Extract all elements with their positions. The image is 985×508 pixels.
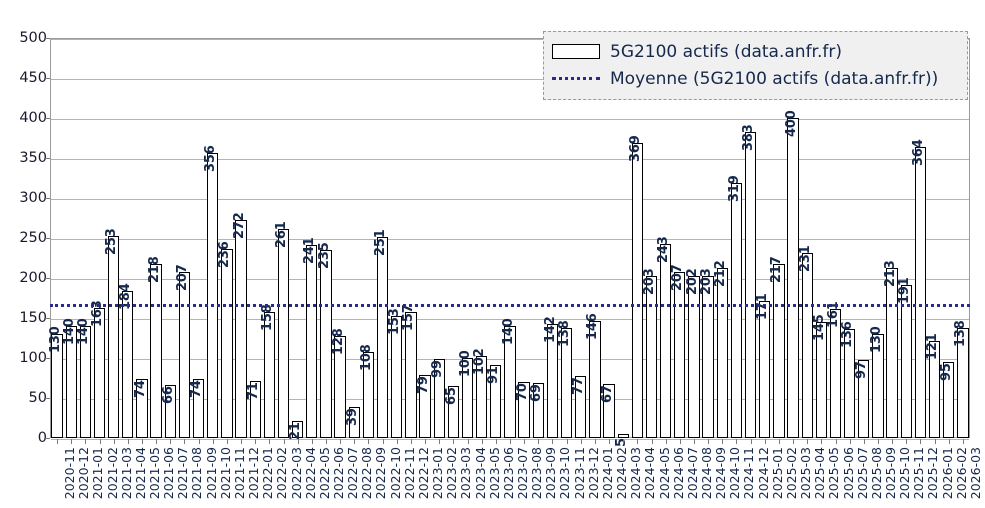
x-axis-tick-mark	[255, 439, 256, 444]
bar-value-label: 203	[642, 268, 657, 295]
bar-value-label: 261	[274, 222, 289, 249]
y-axis-tick-label: 0	[0, 430, 47, 446]
bar-value-label: 207	[670, 265, 685, 292]
bar-value-label: 400	[784, 110, 799, 137]
x-axis-tick-label: 2024-04	[642, 447, 657, 499]
x-axis-tick-mark	[340, 439, 341, 444]
x-axis-tick-mark	[439, 439, 440, 444]
bar-value-label: 236	[217, 242, 232, 269]
x-axis-tick-mark	[468, 439, 469, 444]
bar-value-label: 67	[600, 386, 615, 404]
bar	[915, 147, 926, 438]
x-axis-tick-mark	[736, 439, 737, 444]
bar	[731, 183, 742, 438]
x-axis-tick-mark	[751, 439, 752, 444]
x-axis-tick-mark	[114, 439, 115, 444]
x-axis-tick-mark	[949, 439, 950, 444]
x-axis-tick-mark	[595, 439, 596, 444]
bar-value-label: 140	[76, 318, 91, 345]
bar	[235, 220, 246, 438]
bar	[221, 249, 232, 438]
bar-value-label: 203	[699, 268, 714, 295]
x-axis-tick-label: 2021-06	[161, 447, 176, 499]
x-axis-tick-label: 2021-02	[105, 447, 120, 499]
bar	[150, 264, 161, 438]
x-axis-tick-mark	[510, 439, 511, 444]
x-axis-tick-mark	[184, 439, 185, 444]
bar-value-label: 243	[656, 236, 671, 263]
x-axis-tick-label: 2020-12	[76, 447, 91, 499]
x-axis-tick-mark	[963, 439, 964, 444]
y-axis-tick-label: 350	[0, 150, 47, 166]
x-axis-tick-mark	[354, 439, 355, 444]
bar-value-label: 369	[628, 135, 643, 162]
x-axis-tick-label: 2021-03	[119, 447, 134, 499]
x-axis-tick-label: 2025-09	[883, 447, 898, 499]
x-axis-tick-mark	[156, 439, 157, 444]
x-axis-tick-mark	[213, 439, 214, 444]
x-axis-tick-mark	[312, 439, 313, 444]
bar-value-label: 251	[373, 230, 388, 257]
y-axis-tick-mark	[44, 438, 50, 439]
bar-value-label: 138	[557, 320, 572, 347]
bar-chart: 050100150200250300350400450500 130140140…	[0, 0, 985, 508]
x-axis-tick-mark	[609, 439, 610, 444]
y-axis-tick-label: 250	[0, 230, 47, 246]
x-axis-tick-mark	[496, 439, 497, 444]
x-axis-tick-label: 2022-10	[388, 447, 403, 499]
x-axis-tick-mark	[482, 439, 483, 444]
bar-value-label: 21	[288, 422, 303, 440]
bar-value-label: 77	[571, 378, 586, 396]
bar	[745, 132, 756, 438]
bar-value-label: 74	[133, 380, 148, 398]
x-axis-tick-label: 2022-03	[289, 447, 304, 499]
legend-item-mean: Moyenne (5G2100 actifs (data.anfr.fr))	[552, 65, 959, 92]
bar	[802, 253, 813, 438]
x-axis-tick-label: 2023-08	[529, 447, 544, 499]
x-axis-tick-mark	[708, 439, 709, 444]
x-axis-tick-label: 2022-11	[402, 447, 417, 499]
x-axis-tick-mark	[241, 439, 242, 444]
bar-value-label: 66	[161, 386, 176, 404]
x-axis-tick-label: 2025-03	[798, 447, 813, 499]
x-axis-tick-label: 2024-08	[699, 447, 714, 499]
x-axis-tick-label: 2025-05	[826, 447, 841, 499]
x-axis-tick-label: 2023-10	[557, 447, 572, 499]
bar-outline-swatch-icon	[552, 44, 600, 59]
bar	[320, 250, 331, 438]
x-axis-tick-mark	[807, 439, 808, 444]
x-axis-tick-mark	[793, 439, 794, 444]
bar-value-label: 79	[416, 376, 431, 394]
x-axis-tick-mark	[142, 439, 143, 444]
x-axis-tick-label: 2024-11	[741, 447, 756, 499]
bar-value-label: 207	[175, 265, 190, 292]
bar-value-label: 65	[444, 387, 459, 405]
bar-value-label: 69	[529, 384, 544, 402]
x-axis-tick-label: 2025-01	[770, 447, 785, 499]
x-axis-tick-label: 2024-01	[600, 447, 615, 499]
x-axis-tick-label: 2025-02	[784, 447, 799, 499]
bar-value-label: 191	[897, 278, 912, 305]
bar	[94, 308, 105, 438]
x-axis-tick-label: 2023-12	[586, 447, 601, 499]
x-axis-tick-label: 2025-04	[812, 447, 827, 499]
x-axis-tick-mark	[567, 439, 568, 444]
x-axis-tick-mark	[666, 439, 667, 444]
bar	[702, 276, 713, 438]
x-axis-tick-mark	[85, 439, 86, 444]
y-axis-tick-label: 150	[0, 310, 47, 326]
x-axis-tick-label: 2023-01	[430, 447, 445, 499]
bar-value-label: 212	[713, 261, 728, 288]
y-axis-tick-label: 100	[0, 350, 47, 366]
x-axis-tick-mark	[368, 439, 369, 444]
dotted-line-swatch-icon	[552, 77, 600, 80]
legend-label-mean: Moyenne (5G2100 actifs (data.anfr.fr))	[610, 69, 938, 89]
bar-value-label: 231	[798, 246, 813, 273]
x-axis-tick-label: 2022-04	[303, 447, 318, 499]
x-axis-tick-mark	[694, 439, 695, 444]
x-axis-tick-mark	[552, 439, 553, 444]
bar-value-label: 39	[345, 408, 360, 426]
bar	[278, 229, 289, 438]
x-axis-tick-mark	[779, 439, 780, 444]
bar-value-label: 5	[614, 438, 629, 447]
bar	[122, 291, 133, 438]
bar-value-label: 272	[232, 213, 247, 240]
bar-value-label: 102	[472, 349, 487, 376]
x-axis-tick-mark	[128, 439, 129, 444]
bar	[179, 272, 190, 438]
bar-value-label: 171	[755, 294, 770, 321]
x-axis-tick-mark	[227, 439, 228, 444]
y-axis-tick-label: 400	[0, 110, 47, 126]
x-axis-tick-label: 2023-03	[458, 447, 473, 499]
x-axis-tick-label: 2026-03	[968, 447, 983, 499]
bar-value-label: 71	[246, 382, 261, 400]
bar-value-label: 158	[260, 304, 275, 331]
bar-value-label: 356	[203, 146, 218, 173]
x-axis-tick-label: 2022-06	[331, 447, 346, 499]
x-axis-tick-label: 2024-09	[713, 447, 728, 499]
bar-value-label: 108	[359, 344, 374, 371]
x-axis-tick-label: 2024-06	[671, 447, 686, 499]
bar-value-label: 136	[840, 322, 855, 349]
mean-line	[50, 304, 970, 307]
bar-value-label: 99	[430, 360, 445, 378]
bar-value-label: 130	[869, 326, 884, 353]
x-axis-tick-mark	[298, 439, 299, 444]
x-axis-tick-label: 2025-06	[841, 447, 856, 499]
x-axis-tick-label: 2022-01	[260, 447, 275, 499]
x-axis-tick-label: 2022-12	[416, 447, 431, 499]
bar-value-label: 97	[854, 362, 869, 380]
bar-value-label: 128	[331, 328, 346, 355]
x-axis-tick-label: 2023-06	[501, 447, 516, 499]
legend-label-bars: 5G2100 actifs (data.anfr.fr)	[610, 42, 842, 62]
x-axis-tick-mark	[57, 439, 58, 444]
x-axis-tick-label: 2025-10	[897, 447, 912, 499]
bar-value-label: 130	[48, 326, 63, 353]
bar-value-label: 202	[685, 269, 700, 296]
bar-value-label: 217	[769, 257, 784, 284]
bar	[306, 245, 317, 438]
x-axis-tick-label: 2022-09	[373, 447, 388, 499]
bar-value-label: 145	[812, 314, 827, 341]
y-axis-tick-label: 500	[0, 30, 47, 46]
x-axis-tick-mark	[652, 439, 653, 444]
x-axis-tick-label: 2023-05	[487, 447, 502, 499]
x-axis-tick-label: 2023-02	[444, 447, 459, 499]
x-axis-tick-label: 2026-01	[940, 447, 955, 499]
x-axis-tick-label: 2021-08	[189, 447, 204, 499]
x-axis-tick-mark	[920, 439, 921, 444]
bar-value-label: 146	[585, 314, 600, 341]
x-axis-tick-label: 2021-11	[232, 447, 247, 499]
x-axis-tick-mark	[538, 439, 539, 444]
x-axis-tick-mark	[284, 439, 285, 444]
bar-value-label: 253	[104, 228, 119, 255]
bar-value-label: 70	[515, 383, 530, 401]
bar-value-label: 74	[189, 380, 204, 398]
legend-item-bars: 5G2100 actifs (data.anfr.fr)	[552, 38, 959, 65]
bar-value-label: 100	[458, 350, 473, 377]
x-axis-tick-mark	[850, 439, 851, 444]
x-axis-tick-label: 2022-02	[274, 447, 289, 499]
y-axis-tick-label: 200	[0, 270, 47, 286]
x-axis-tick-label: 2024-03	[628, 447, 643, 499]
x-axis-tick-mark	[821, 439, 822, 444]
x-axis-tick-mark	[326, 439, 327, 444]
bar-value-label: 121	[925, 334, 940, 361]
bar-value-label: 213	[883, 260, 898, 287]
bar-value-label: 383	[741, 124, 756, 151]
bar-value-label: 241	[302, 238, 317, 265]
x-axis-tick-mark	[864, 439, 865, 444]
x-axis-tick-mark	[935, 439, 936, 444]
x-axis-tick-mark	[836, 439, 837, 444]
x-axis-tick-mark	[637, 439, 638, 444]
x-axis-tick-label: 2023-07	[515, 447, 530, 499]
x-axis-tick-label: 2025-08	[869, 447, 884, 499]
x-axis-tick-mark	[397, 439, 398, 444]
x-axis-tick-label: 2022-05	[317, 447, 332, 499]
x-axis-tick-label: 2023-11	[572, 447, 587, 499]
x-axis-tick-mark	[623, 439, 624, 444]
y-axis-tick-label: 300	[0, 190, 47, 206]
x-axis-tick-mark	[453, 439, 454, 444]
y-axis-tick-label: 450	[0, 70, 47, 86]
x-axis-tick-label: 2022-07	[345, 447, 360, 499]
x-axis-tick-mark	[906, 439, 907, 444]
bar	[646, 276, 657, 438]
bar	[108, 236, 119, 438]
x-axis-tick-label: 2026-02	[954, 447, 969, 499]
x-axis-tick-mark	[170, 439, 171, 444]
bar-value-label: 157	[401, 305, 416, 332]
bar	[207, 153, 218, 438]
bar	[787, 118, 798, 438]
x-axis-tick-mark	[524, 439, 525, 444]
x-axis-tick-label: 2024-07	[685, 447, 700, 499]
x-axis-tick-label: 2021-05	[147, 447, 162, 499]
bar-value-label: 140	[62, 318, 77, 345]
bar	[717, 268, 728, 438]
x-axis-tick-label: 2024-02	[614, 447, 629, 499]
bar-value-label: 319	[727, 175, 742, 202]
bar	[674, 272, 685, 438]
legend: 5G2100 actifs (data.anfr.fr) Moyenne (5G…	[543, 31, 968, 100]
x-axis-tick-mark	[269, 439, 270, 444]
x-axis-tick-label: 2021-09	[204, 447, 219, 499]
bar-value-label: 218	[147, 256, 162, 283]
bar	[688, 276, 699, 438]
x-axis-tick-label: 2021-10	[218, 447, 233, 499]
x-axis-tick-label: 2020-11	[62, 447, 77, 499]
x-axis-tick-mark	[411, 439, 412, 444]
bar-value-label: 95	[939, 363, 954, 381]
bar	[759, 301, 770, 438]
bar	[405, 312, 416, 438]
bar	[377, 237, 388, 438]
x-axis-tick-mark	[199, 439, 200, 444]
bar-value-label: 91	[486, 366, 501, 384]
x-axis-tick-mark	[383, 439, 384, 444]
x-axis-tick-label: 2021-12	[246, 447, 261, 499]
x-axis-tick-mark	[100, 439, 101, 444]
x-axis-tick-mark	[680, 439, 681, 444]
x-axis-tick-mark	[71, 439, 72, 444]
bar-value-label: 235	[317, 242, 332, 269]
x-axis-tick-mark	[892, 439, 893, 444]
x-axis-tick-label: 2025-07	[855, 447, 870, 499]
x-axis-tick-mark	[581, 439, 582, 444]
x-axis-tick-label: 2024-05	[657, 447, 672, 499]
bar-value-label: 364	[911, 139, 926, 166]
bar-value-label: 140	[501, 318, 516, 345]
bar-value-label: 138	[953, 320, 968, 347]
x-axis-tick-mark	[765, 439, 766, 444]
bar	[901, 285, 912, 438]
x-axis-tick-label: 2024-12	[756, 447, 771, 499]
x-axis-tick-mark	[425, 439, 426, 444]
x-axis-tick-label: 2021-01	[90, 447, 105, 499]
x-axis-tick-label: 2025-12	[925, 447, 940, 499]
x-axis-tick-mark	[878, 439, 879, 444]
x-axis-tick-label: 2021-04	[133, 447, 148, 499]
y-axis-tick-label: 50	[0, 390, 47, 406]
bar-value-label: 142	[543, 317, 558, 344]
x-axis-tick-mark	[722, 439, 723, 444]
x-axis-tick-label: 2023-04	[473, 447, 488, 499]
bar	[773, 264, 784, 438]
